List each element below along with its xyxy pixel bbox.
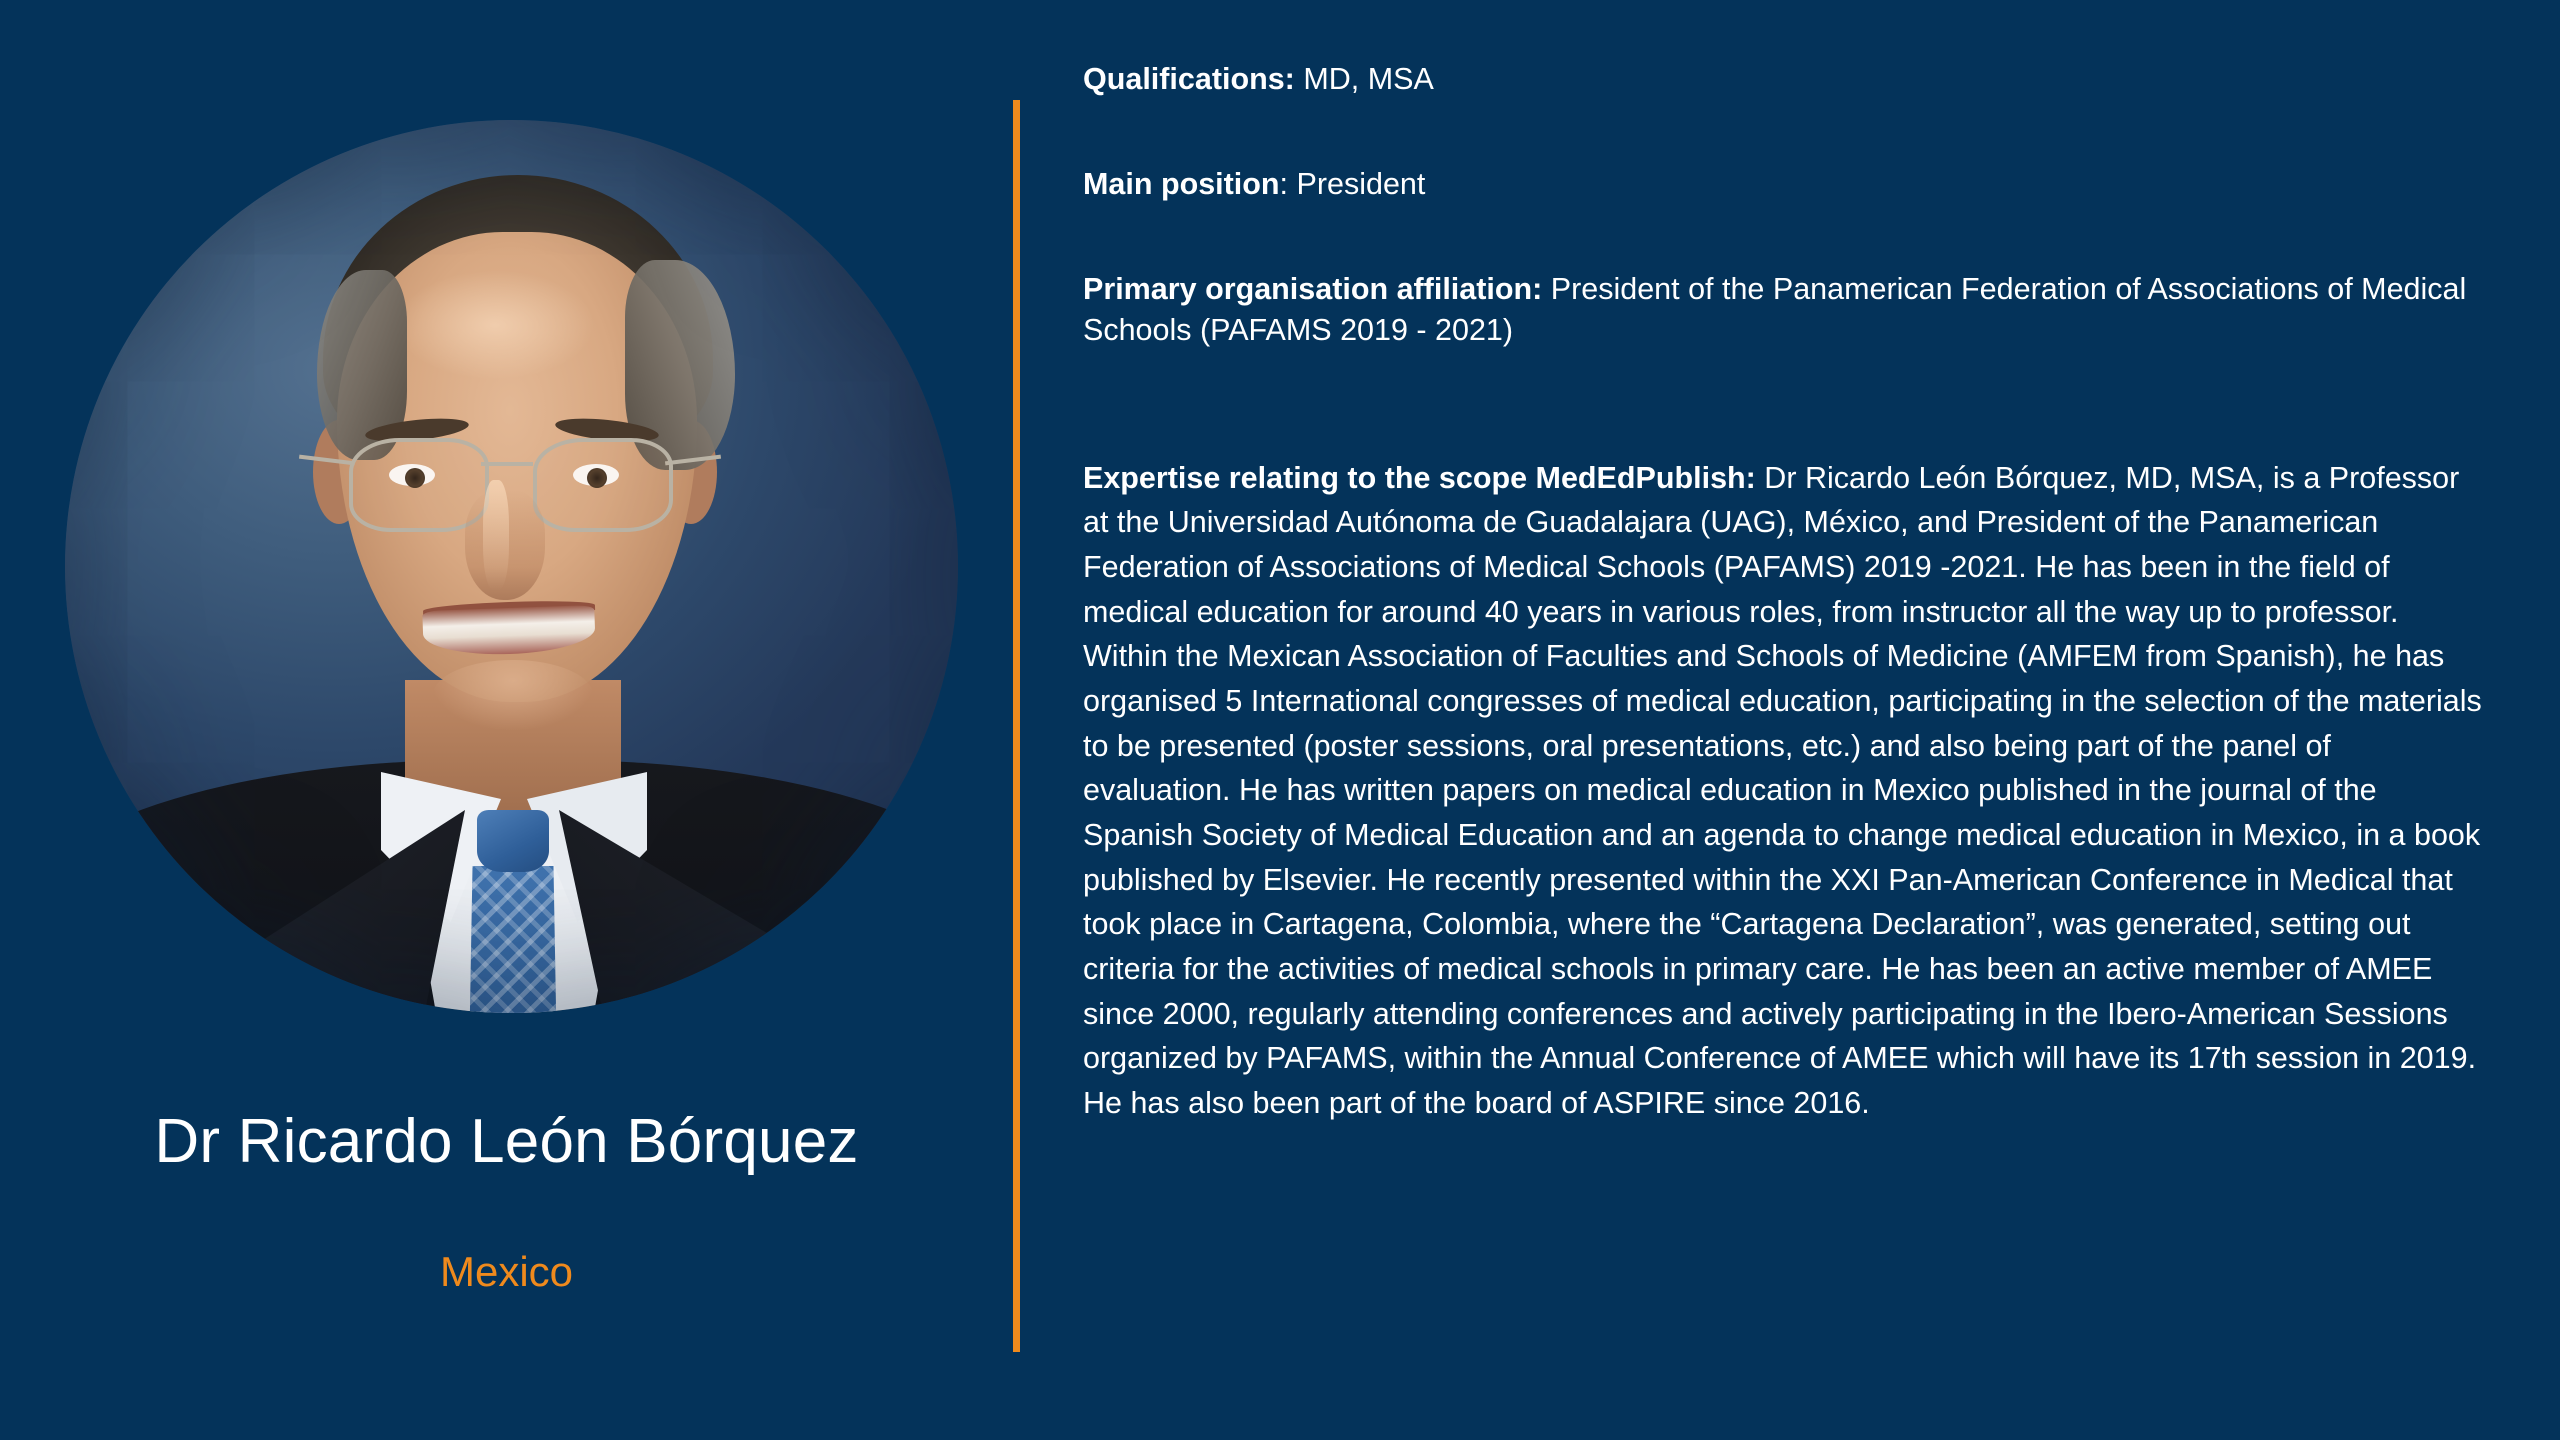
field-qualifications: Qualifications: MD, MSA — [1083, 59, 2483, 101]
profile-slide: Dr Ricardo León Bórquez Mexico Qualifica… — [0, 0, 2560, 1440]
field-affiliation: Primary organisation affiliation: Presid… — [1083, 269, 2483, 353]
field-expertise-label: Expertise relating to the scope MedEdPub… — [1083, 461, 1756, 495]
field-expertise: Expertise relating to the scope MedEdPub… — [1083, 456, 2483, 1126]
forehead-highlight — [395, 270, 595, 380]
necktie-knot — [477, 810, 549, 872]
field-main-position-label: Main position — [1083, 167, 1280, 201]
person-country: Mexico — [0, 1248, 1013, 1296]
field-qualifications-value: MD, MSA — [1295, 62, 1434, 96]
profile-left-column: Dr Ricardo León Bórquez Mexico — [0, 0, 1013, 1440]
vertical-divider — [1013, 100, 1020, 1352]
person-name: Dr Ricardo León Bórquez — [0, 1108, 1013, 1176]
field-qualifications-label: Qualifications: — [1083, 62, 1295, 96]
field-main-position: Main position: President — [1083, 164, 2483, 206]
nose-highlight — [483, 480, 509, 590]
profile-right-column: Qualifications: MD, MSA Main position: P… — [1083, 0, 2503, 1440]
chin — [433, 660, 593, 730]
necktie — [467, 866, 559, 1013]
glasses-lens-right — [533, 438, 673, 532]
portrait-photo — [65, 120, 958, 1013]
field-main-position-value: : President — [1280, 167, 1426, 201]
glasses-bridge — [481, 462, 533, 466]
field-affiliation-label: Primary organisation affiliation: — [1083, 272, 1542, 306]
field-expertise-value: Dr Ricardo León Bórquez, MD, MSA, is a P… — [1083, 461, 2482, 1120]
